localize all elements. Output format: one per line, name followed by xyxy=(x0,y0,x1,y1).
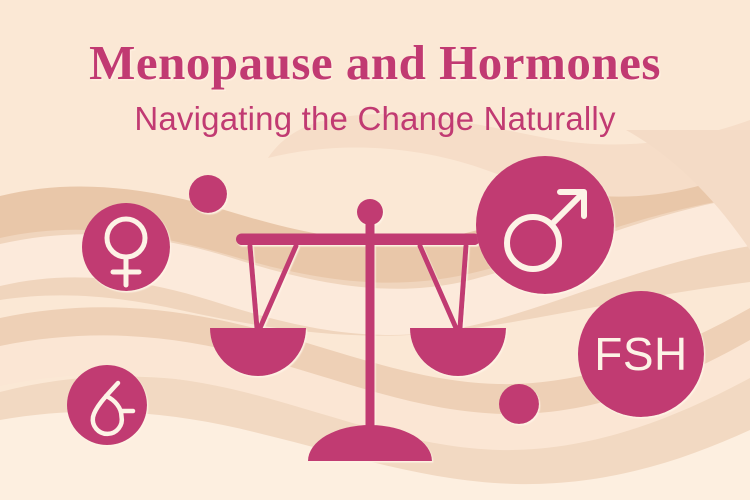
scale-right-hanger xyxy=(420,246,466,328)
fsh-badge[interactable]: FSH xyxy=(578,291,704,417)
mars-symbol-badge[interactable] xyxy=(476,156,614,294)
poster-canvas: FSH Menopause and Hormones Navigating th… xyxy=(0,0,750,500)
balance-scale-illustration xyxy=(210,199,506,461)
decorative-dot-mid xyxy=(499,384,539,424)
fsh-badge-label: FSH xyxy=(594,328,688,380)
decorative-dot-top xyxy=(189,175,227,213)
scale-base xyxy=(308,425,432,461)
venus-symbol-badge[interactable] xyxy=(82,203,170,291)
hormone-glyph-badge[interactable] xyxy=(67,365,147,445)
scale-left-hanger xyxy=(250,246,296,328)
scale-post xyxy=(366,214,375,436)
scale-left-pan xyxy=(210,328,306,376)
scale-right-pan xyxy=(410,328,506,376)
scale-beam xyxy=(236,234,480,246)
mars-badge-circle xyxy=(476,156,614,294)
scale-top-knob xyxy=(357,199,383,225)
foreground-artwork: FSH xyxy=(0,0,750,500)
